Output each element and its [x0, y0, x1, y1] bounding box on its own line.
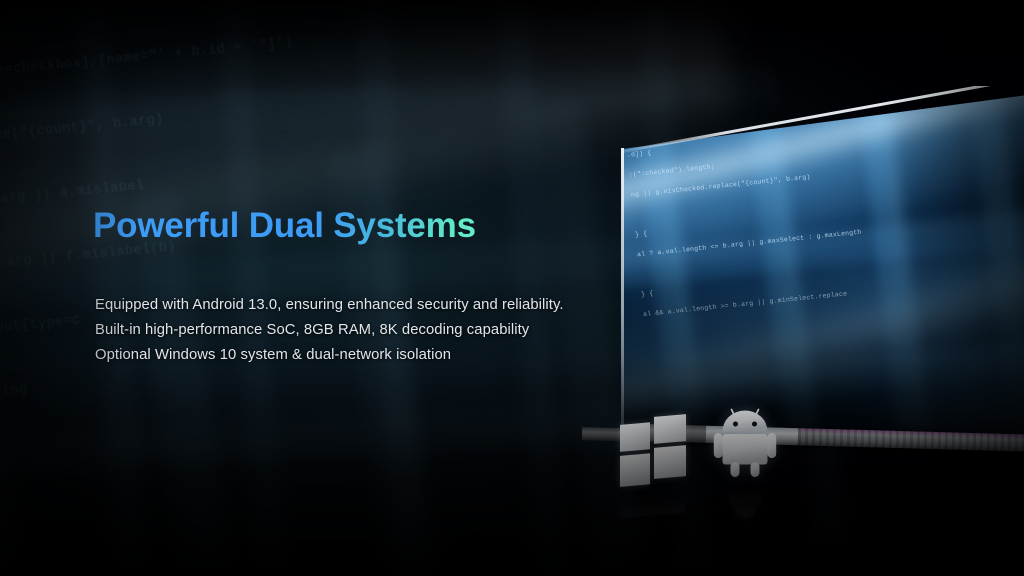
background-vignette — [0, 0, 1024, 576]
slide-canvas: type=checkbox],[name="' + b.id + '"]') l… — [0, 0, 1024, 576]
